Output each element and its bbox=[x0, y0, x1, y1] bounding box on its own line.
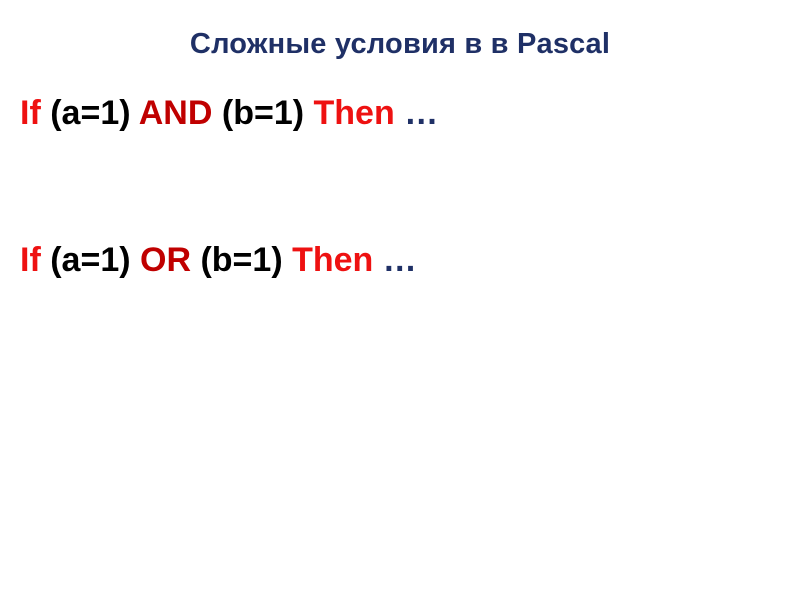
ellipsis: … bbox=[383, 241, 417, 279]
code-line-if-and: If (a=1) AND (b=1) Then … bbox=[20, 96, 780, 130]
condition-right: (b=1) bbox=[200, 241, 282, 279]
ellipsis: … bbox=[404, 94, 438, 132]
keyword-then: Then bbox=[292, 241, 373, 279]
code-block: If (a=1) AND (b=1) Then … If (a=1) OR (b… bbox=[20, 96, 780, 277]
condition-right: (b=1) bbox=[222, 94, 304, 132]
code-line-if-or: If (a=1) OR (b=1) Then … bbox=[20, 243, 780, 277]
keyword-if: If bbox=[20, 94, 41, 132]
operator-and: AND bbox=[139, 94, 213, 132]
condition-left: (a=1) bbox=[50, 94, 130, 132]
keyword-then: Then bbox=[314, 94, 395, 132]
keyword-if: If bbox=[20, 241, 41, 279]
presentation-slide: Сложные условия в в Pascal If (a=1) AND … bbox=[0, 0, 800, 600]
operator-or: OR bbox=[140, 241, 191, 279]
condition-left: (a=1) bbox=[50, 241, 130, 279]
page-title: Сложные условия в в Pascal bbox=[0, 28, 800, 61]
